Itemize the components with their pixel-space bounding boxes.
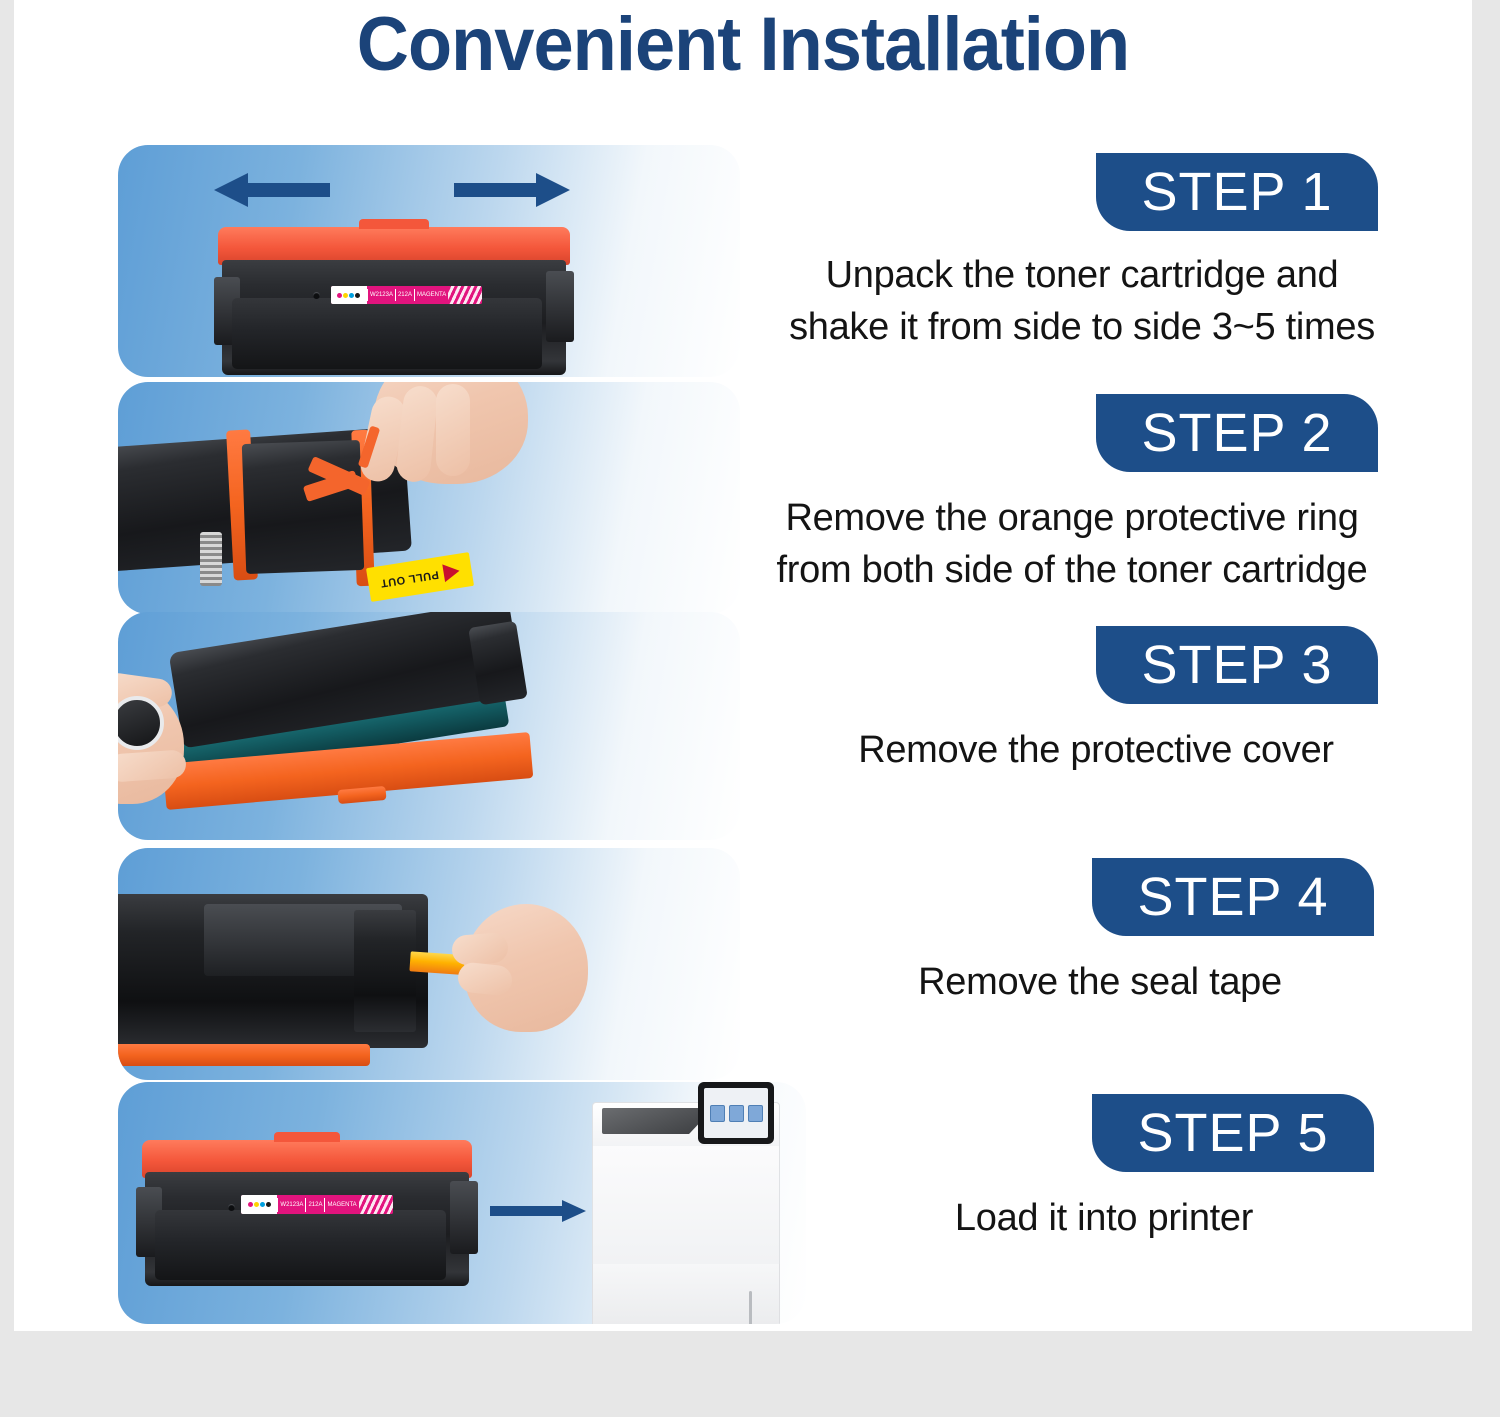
step-1-image-panel: W2123A 212A MAGENTA	[118, 145, 740, 377]
step-4-line-1: Remove the seal tape	[750, 956, 1450, 1008]
step-3-text-column: STEP 3 Remove the protective cover	[740, 612, 1472, 840]
step-5-artwork: W2123A 212A MAGENTA	[118, 1082, 806, 1324]
toner-cartridge: W2123A 212A MAGENTA	[142, 1140, 472, 1286]
orange-cover-tab	[337, 786, 386, 804]
step-2-text-column: STEP 2 Remove the orange protective ring…	[740, 382, 1472, 614]
step-row-3: STEP 3 Remove the protective cover	[14, 612, 1472, 840]
infographic-page: Convenient Installation	[0, 0, 1500, 1417]
content-card: Convenient Installation	[14, 0, 1472, 1331]
cmyk-logo-icon	[241, 1195, 277, 1214]
step-row-4: STEP 4 Remove the seal tape	[14, 848, 1472, 1080]
label-series: 212A	[395, 289, 414, 301]
step-row-2: PULL OUT STEP 2 Remove the orange protec…	[14, 382, 1472, 614]
step-4-description: Remove the seal tape	[750, 956, 1450, 1008]
step-4-image-panel	[118, 848, 740, 1080]
cartridge-end-cap-right	[546, 271, 574, 342]
cartridge-label: W2123A 212A MAGENTA	[331, 286, 482, 304]
label-part-number: W2123A	[277, 1198, 305, 1211]
label-color-name: MAGENTA	[324, 1198, 358, 1211]
step-row-5: W2123A 212A MAGENTA	[14, 1082, 1472, 1324]
toner-cartridge: W2123A 212A MAGENTA	[218, 227, 570, 375]
arrow-right-icon	[490, 1200, 586, 1222]
step-3-badge: STEP 3	[1096, 626, 1378, 704]
step-row-1: W2123A 212A MAGENTA STEP 1 Unpack the to…	[14, 145, 1472, 377]
step-3-line-1: Remove the protective cover	[746, 724, 1446, 776]
step-3-image-panel	[118, 612, 740, 840]
step-2-artwork: PULL OUT	[118, 382, 740, 614]
page-title: Convenient Installation	[50, 2, 1435, 88]
pull-out-tag: PULL OUT	[366, 552, 474, 602]
step-4-badge: STEP 4	[1092, 858, 1374, 936]
step-5-description: Load it into printer	[754, 1192, 1454, 1244]
finger-index	[451, 932, 509, 966]
label-part-number: W2123A	[367, 289, 395, 301]
printer-app-icon-1[interactable]	[710, 1105, 725, 1122]
cmyk-logo-icon	[331, 286, 367, 304]
step-2-line-1: Remove the orange protective ring	[712, 492, 1432, 544]
step-4-text-column: STEP 4 Remove the seal tape	[740, 848, 1472, 1080]
step-1-text-column: STEP 1 Unpack the toner cartridge and sh…	[740, 145, 1472, 377]
cartridge-inner-mech	[242, 440, 364, 574]
step-5-image-panel: W2123A 212A MAGENTA	[118, 1082, 806, 1324]
step-2-image-panel: PULL OUT	[118, 382, 740, 614]
finger-thumb	[457, 961, 514, 996]
cartridge-end-cap-right	[450, 1181, 478, 1254]
cartridge-hole-left	[228, 1204, 235, 1211]
step-5-line-1: Load it into printer	[754, 1192, 1454, 1244]
step-3-artwork	[118, 612, 740, 840]
cartridge-lower-face	[232, 298, 542, 369]
step-1-line-1: Unpack the toner cartridge and	[722, 249, 1442, 301]
label-barcode-stripe	[359, 1195, 393, 1214]
step-5-text-column: STEP 5 Load it into printer	[740, 1082, 1472, 1324]
orange-base-strip	[118, 1044, 370, 1066]
step-1-description: Unpack the toner cartridge and shake it …	[722, 249, 1442, 353]
cartridge-end-block	[354, 910, 416, 1032]
label-series: 212A	[305, 1198, 324, 1211]
step-2-line-2: from both side of the toner cartridge	[712, 544, 1432, 596]
step-3-description: Remove the protective cover	[746, 724, 1446, 776]
cartridge-label: W2123A 212A MAGENTA	[241, 1195, 393, 1214]
step-5-badge: STEP 5	[1092, 1094, 1374, 1172]
step-1-artwork: W2123A 212A MAGENTA	[118, 145, 740, 377]
label-barcode-stripe	[448, 286, 482, 304]
step-4-artwork	[118, 848, 740, 1080]
step-2-description: Remove the orange protective ring from b…	[712, 492, 1432, 596]
pull-out-arrow-icon	[443, 562, 462, 582]
step-2-badge: STEP 2	[1096, 394, 1378, 472]
arrow-left-icon	[214, 173, 330, 207]
spring-icon	[200, 532, 222, 586]
finger-ring	[436, 384, 470, 476]
step-1-badge: STEP 1	[1096, 153, 1378, 231]
cartridge-lower-face	[155, 1210, 445, 1280]
label-color-name: MAGENTA	[414, 289, 448, 301]
step-1-line-2: shake it from side to side 3~5 times	[722, 301, 1442, 353]
pull-out-tag-label: PULL OUT	[379, 568, 439, 589]
arrow-right-icon	[454, 173, 570, 207]
